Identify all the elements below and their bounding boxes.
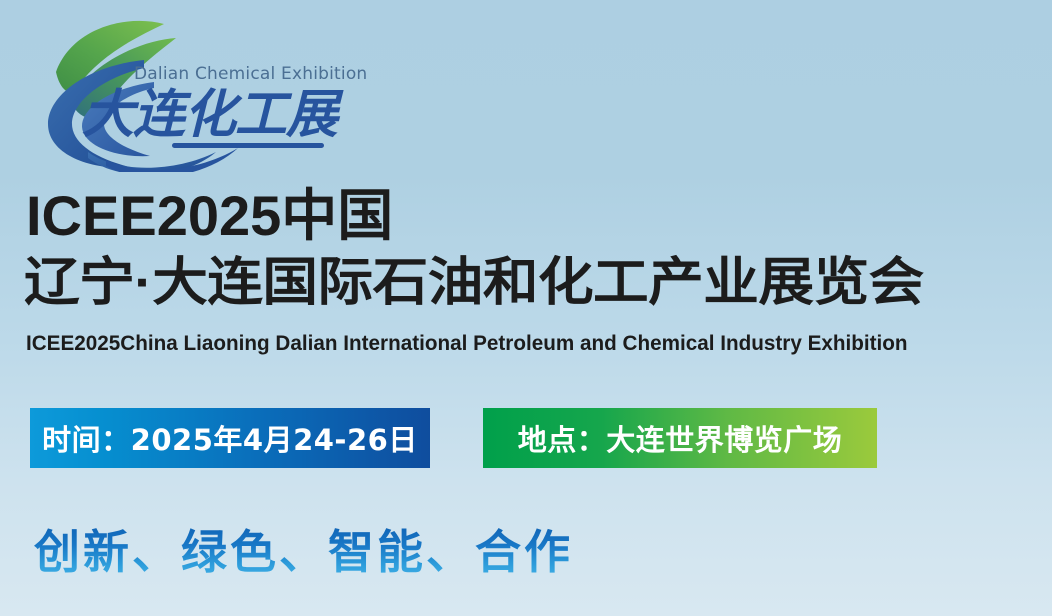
slogan-text: 创新、绿色、智能、合作 — [34, 523, 573, 581]
page-title-line1: ICEE2025中国 — [26, 186, 393, 246]
logo: Dalian Chemical Exhibition 大连化工展 — [26, 12, 326, 172]
page-title-english: ICEE2025China Liaoning Dalian Internatio… — [26, 331, 908, 356]
page-title-line2: 辽宁·大连国际石油和化工产业展览会 — [24, 254, 924, 312]
logo-english-name: Dalian Chemical Exhibition — [134, 64, 367, 84]
exhibition-banner: Dalian Chemical Exhibition 大连化工展 ICEE202… — [0, 0, 1052, 616]
logo-chinese-name: 大连化工展 — [82, 86, 337, 144]
venue-badge: 地点：大连世界博览广场 — [483, 408, 877, 468]
date-badge: 时间：2025年4月24-26日 — [30, 408, 430, 468]
